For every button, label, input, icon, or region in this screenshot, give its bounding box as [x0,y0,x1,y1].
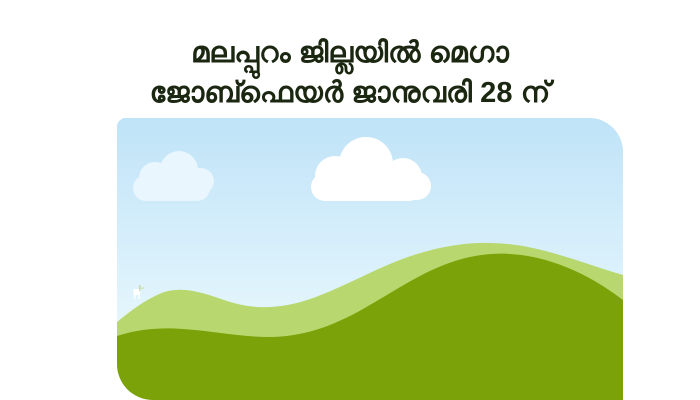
illustration-card [117,118,623,400]
landscape-illustration [117,118,623,400]
page-root: മലപ്പുറം ജില്ലയിൽ മെഗാ ജോബ്ഫെയർ ജാനുവരി … [0,0,700,400]
page-title-line-1: മലപ്പുറം ജില്ലയിൽ മെഗാ [0,33,700,73]
page-title: മലപ്പുറം ജില്ലയിൽ മെഗാ ജോബ്ഫെയർ ജാനുവരി … [0,33,700,113]
page-title-line-2: ജോബ്ഫെയർ ജാനുവരി 28 ന് [0,73,700,113]
